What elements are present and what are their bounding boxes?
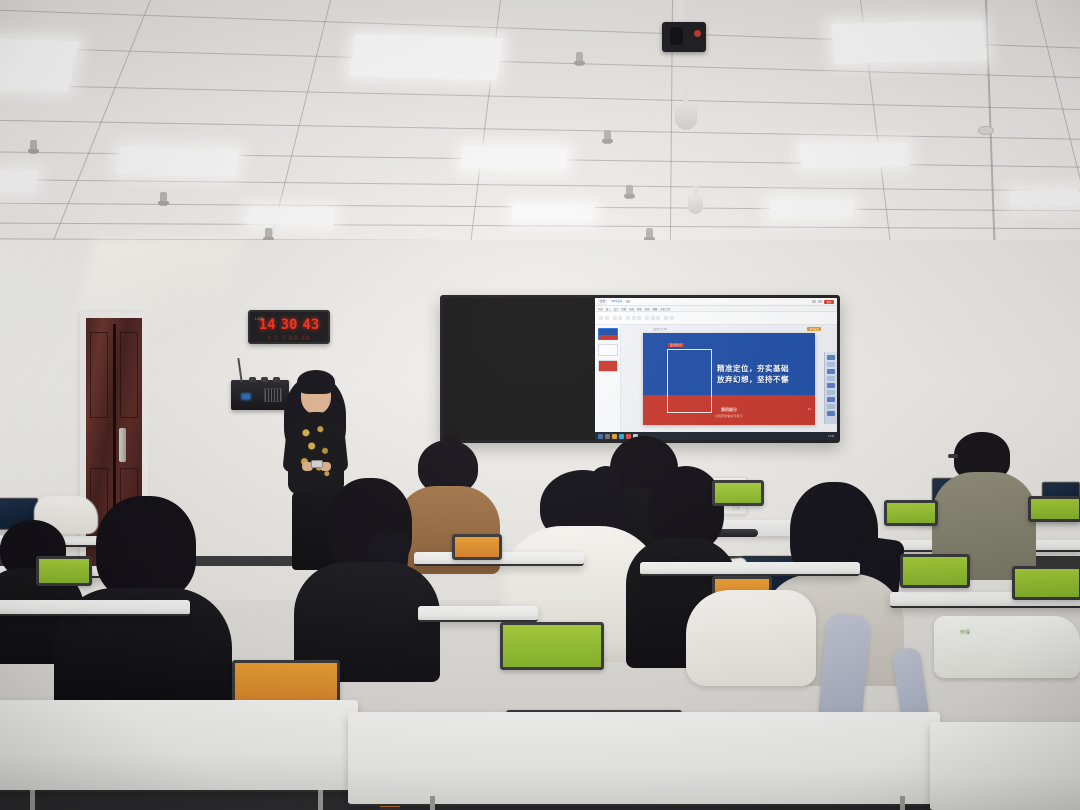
align-right-icon[interactable] xyxy=(656,316,660,320)
ceiling xyxy=(0,0,1080,262)
desk-leg xyxy=(30,790,35,810)
slide-tag-chip[interactable]: 备考建议 xyxy=(807,327,821,331)
presenter-hair-top xyxy=(297,370,335,394)
ceiling-speaker-2 xyxy=(688,196,703,214)
front-desk-left xyxy=(0,700,358,792)
tote-bag: 环保 xyxy=(934,616,1080,678)
slide-decor-frame xyxy=(667,349,712,413)
student-desk xyxy=(640,562,860,576)
classroom-chair[interactable] xyxy=(1012,566,1080,600)
ribbon-tab-dev[interactable]: 开发工具 xyxy=(660,307,670,311)
app-tab-file[interactable]: 文件 xyxy=(598,299,607,305)
clock-brand-label: LED xyxy=(255,316,264,321)
cut-icon[interactable] xyxy=(605,316,609,320)
panel-icon-media[interactable] xyxy=(827,390,835,395)
app-titlebar: 文件 WPS演示 协作 xyxy=(595,298,837,306)
led-wall-clock: LED 14 30 43 年 月 日 星期 温度 xyxy=(248,310,330,344)
slide-headline: 精准定位，夯实基础 放弃幻想，坚持不懈 xyxy=(717,363,789,385)
ribbon-toolbar xyxy=(595,312,837,325)
ribbon-tab-review[interactable]: 审阅 xyxy=(645,307,650,311)
underline-icon[interactable] xyxy=(637,316,641,320)
ribbon-tab-slideshow[interactable]: 放映 xyxy=(637,307,642,311)
projector-mount-pole xyxy=(676,0,684,24)
ceiling-light-panel xyxy=(247,207,335,226)
wireless-mic-receiver[interactable] xyxy=(231,380,289,410)
slide-headline-line2: 放弃幻想，坚持不懈 xyxy=(717,374,789,385)
app-tab-wps[interactable]: WPS演示 xyxy=(609,299,624,305)
panel-icon-image[interactable] xyxy=(827,369,835,374)
slide-footer-line1: 第四部分 xyxy=(643,407,815,413)
classroom-chair[interactable] xyxy=(500,622,604,670)
new-tab-icon[interactable] xyxy=(626,300,630,303)
italic-icon[interactable] xyxy=(632,316,636,320)
smoke-detector-icon xyxy=(978,126,994,135)
ceiling-projector xyxy=(662,22,706,52)
panel-icon-cloud[interactable] xyxy=(827,404,835,409)
classroom-chair[interactable] xyxy=(1028,496,1080,522)
editor-body: 幻灯片 1 / 24 备考建议 备考建议 精准定位，夯实基础 放弃幻想，坚持不懈 xyxy=(595,325,837,432)
share-button[interactable]: 协作 xyxy=(824,300,834,304)
align-center-icon[interactable] xyxy=(651,316,655,320)
clock-seconds: 43 xyxy=(302,317,319,333)
slide-status-text: 幻灯片 1 / 24 xyxy=(653,327,667,331)
tote-bag-text: 环保 xyxy=(960,630,970,636)
panel-icon-chart[interactable] xyxy=(827,376,835,381)
slide-thumbnail[interactable] xyxy=(598,328,618,340)
slide-thumbnail[interactable] xyxy=(598,344,618,356)
shapes-icon[interactable] xyxy=(664,316,668,320)
slide-page-number: 24 xyxy=(808,407,811,411)
board-display-screen[interactable]: 文件 WPS演示 协作 开始 插入 设计 切换 动画 放映 审阅 视图 开发工具 xyxy=(595,298,837,440)
sprinkler-head xyxy=(626,185,633,199)
ribbon-tab-insert[interactable]: 插入 xyxy=(606,307,611,311)
panel-icon-animation[interactable] xyxy=(827,397,835,402)
presentation-slide: 备考建议 精准定位，夯实基础 放弃幻想，坚持不懈 第四部分 如何高效备考与复习 … xyxy=(643,333,815,425)
desk-leg xyxy=(900,796,905,810)
bold-icon[interactable] xyxy=(626,316,630,320)
speaker-grill-icon xyxy=(264,388,282,402)
smartphone[interactable] xyxy=(311,460,323,468)
slide-thumbnail[interactable] xyxy=(598,360,618,372)
ribbon-tab-start[interactable]: 开始 xyxy=(598,307,603,311)
hair-bun xyxy=(442,434,460,448)
sprinkler-head xyxy=(604,130,611,144)
slide-footer: 第四部分 如何高效备考与复习 xyxy=(643,407,815,418)
classroom-photo-scene: LED 14 30 43 年 月 日 星期 温度 文件 WPS演示 xyxy=(0,0,1080,810)
front-desk-right xyxy=(930,722,1080,810)
classroom-chair[interactable] xyxy=(36,556,92,586)
ceiling-light-panel xyxy=(0,170,39,192)
panel-icon-template[interactable] xyxy=(827,355,835,360)
student-hair xyxy=(96,496,196,600)
desk-leg xyxy=(318,790,323,810)
classroom-chair[interactable] xyxy=(452,534,502,560)
taskbar-clock: 14:30 xyxy=(828,435,834,438)
slide-headline-line1: 精准定位，夯实基础 xyxy=(717,363,789,374)
design-side-panel[interactable] xyxy=(824,352,837,424)
clock-sub-label: 年 月 日 星期 温度 xyxy=(250,335,328,341)
student-ponytail-black xyxy=(298,478,438,678)
ceiling-light-panel xyxy=(116,147,240,177)
desk-leg xyxy=(430,796,435,810)
white-coat-on-chair xyxy=(686,590,816,686)
student-desk xyxy=(0,600,190,616)
paste-icon[interactable] xyxy=(599,316,603,320)
ceiling-light-panel xyxy=(512,205,595,220)
slide-stage: 幻灯片 1 / 24 备考建议 备考建议 精准定位，夯实基础 放弃幻想，坚持不懈 xyxy=(621,325,837,432)
ribbon-tab-view[interactable]: 视图 xyxy=(652,307,657,311)
classroom-chair[interactable] xyxy=(900,554,970,588)
sprinkler-head xyxy=(30,140,37,154)
ceiling-light-panel xyxy=(1009,189,1080,206)
ceiling-light-panel xyxy=(0,38,79,91)
ceiling-light-panel xyxy=(799,142,909,168)
hair-bun xyxy=(592,466,620,488)
align-left-icon[interactable] xyxy=(645,316,649,320)
ceiling-light-panel xyxy=(349,34,503,80)
student-desk xyxy=(418,606,538,622)
ceiling-light-panel xyxy=(461,146,568,169)
ribbon-tab-design[interactable]: 设计 xyxy=(614,307,619,311)
door-handle[interactable] xyxy=(119,428,126,462)
sprinkler-head xyxy=(576,52,583,66)
slide-thumbnail-panel[interactable] xyxy=(595,325,621,432)
status-led-icon xyxy=(241,393,251,400)
ribbon-tab-switch[interactable]: 切换 xyxy=(621,307,626,311)
front-desk-center xyxy=(348,712,940,806)
sprinkler-head xyxy=(160,192,167,206)
panel-icon-more[interactable] xyxy=(827,411,835,416)
layout-icon[interactable] xyxy=(618,316,622,320)
classroom-chair[interactable] xyxy=(884,500,938,526)
maximize-icon[interactable] xyxy=(818,300,822,303)
clock-minutes: 30 xyxy=(281,317,298,333)
panel-icon-shape[interactable] xyxy=(827,383,835,388)
panel-icon-text[interactable] xyxy=(827,362,835,367)
ceiling-light-panel xyxy=(770,200,855,218)
new-slide-icon[interactable] xyxy=(613,316,617,320)
ceiling-speaker xyxy=(675,104,697,130)
slide-footer-line2: 如何高效备考与复习 xyxy=(643,414,815,418)
ceiling-light-panel xyxy=(831,20,987,64)
slide-corner-tag: 备考建议 xyxy=(668,343,684,347)
ribbon-tab-animate[interactable]: 动画 xyxy=(629,307,634,311)
fill-color-icon[interactable] xyxy=(670,316,674,320)
glasses-icon xyxy=(948,454,958,458)
board-blackboard-panel[interactable] xyxy=(443,298,595,440)
minimize-icon[interactable] xyxy=(812,300,816,303)
interactive-smart-board[interactable]: 文件 WPS演示 协作 开始 插入 设计 切换 动画 放映 审阅 视图 开发工具 xyxy=(440,295,840,443)
slide-breadcrumb-bar: 幻灯片 1 / 24 备考建议 xyxy=(651,326,821,332)
classroom-chair[interactable] xyxy=(712,480,764,506)
